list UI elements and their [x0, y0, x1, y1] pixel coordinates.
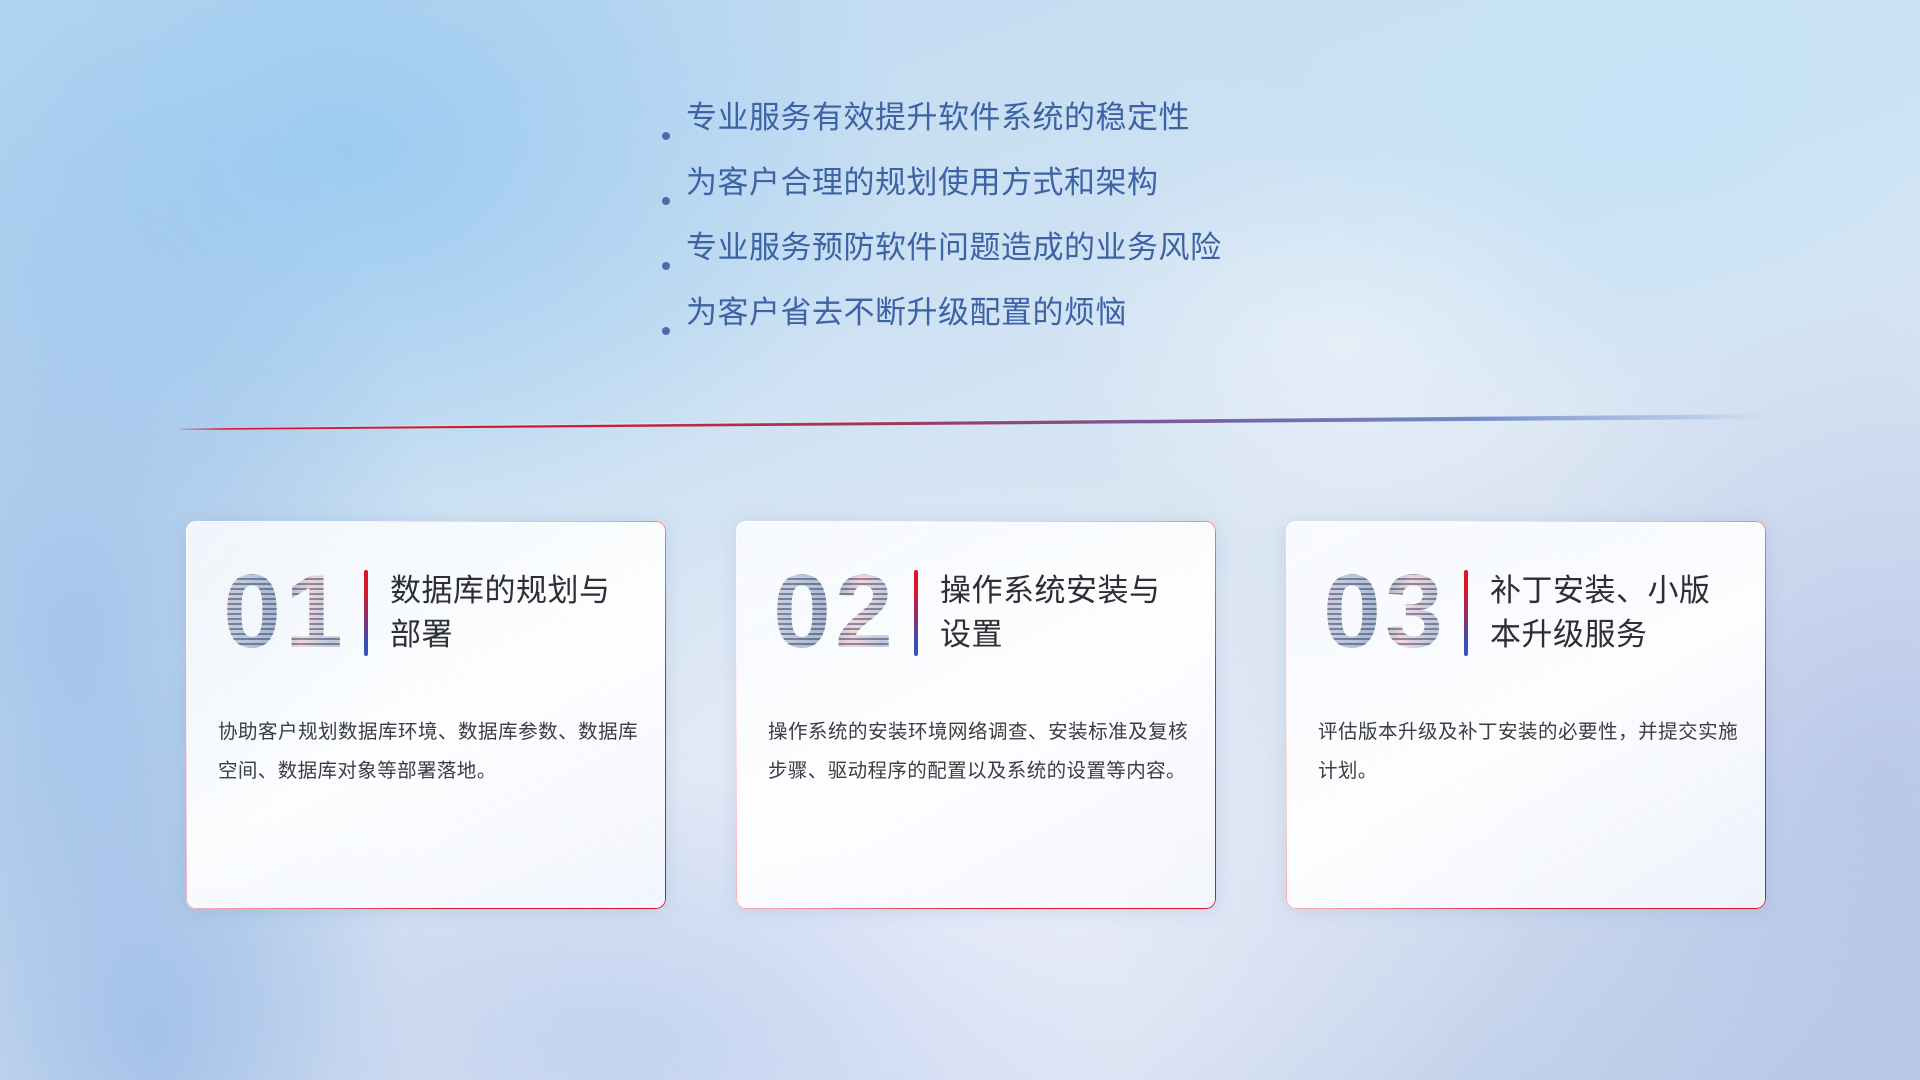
card-header: 01 数据库的规划与部署	[186, 547, 666, 679]
service-card-row: 01 数据库的规划与部署 协助客户规划数据库环境、数据库参数、数据库空间、数据库…	[186, 521, 1766, 911]
section-divider-rule	[180, 408, 1765, 430]
card-index-watermark: 03	[1310, 553, 1460, 673]
card-title: 数据库的规划与部署	[390, 569, 640, 657]
card-description: 协助客户规划数据库环境、数据库参数、数据库空间、数据库对象等部署落地。	[218, 713, 638, 791]
service-card[interactable]: 01 数据库的规划与部署 协助客户规划数据库环境、数据库参数、数据库空间、数据库…	[186, 521, 666, 909]
card-index-watermark: 01	[210, 553, 360, 673]
slide-canvas: 专业服务有效提升软件系统的稳定性 为客户合理的规划使用方式和架构 专业服务预防软…	[0, 0, 1920, 1080]
bullet-text: 专业服务有效提升软件系统的稳定性	[686, 92, 1190, 137]
card-description: 操作系统的安装环境网络调查、安装标准及复核步骤、驱动程序的配置以及系统的设置等内…	[768, 713, 1188, 791]
service-card[interactable]: 02 操作系统安装与设置 操作系统的安装环境网络调查、安装标准及复核步骤、驱动程…	[736, 521, 1216, 909]
card-accent-divider	[364, 570, 368, 656]
list-item: 为客户合理的规划使用方式和架构	[660, 157, 1420, 222]
service-card[interactable]: 03 补丁安装、小版本升级服务 评估版本升级及补丁安装的必要性，并提交实施计划。	[1286, 521, 1766, 909]
card-header: 02 操作系统安装与设置	[736, 547, 1216, 679]
card-index-watermark: 02	[760, 553, 910, 673]
card-description: 评估版本升级及补丁安装的必要性，并提交实施计划。	[1318, 713, 1738, 791]
benefit-bullet-list: 专业服务有效提升软件系统的稳定性 为客户合理的规划使用方式和架构 专业服务预防软…	[660, 92, 1420, 352]
card-title: 补丁安装、小版本升级服务	[1490, 569, 1740, 657]
bullet-text: 专业服务预防软件问题造成的业务风险	[686, 222, 1222, 267]
card-accent-divider	[1464, 570, 1468, 656]
card-title: 操作系统安装与设置	[940, 569, 1190, 657]
list-item: 为客户省去不断升级配置的烦恼	[660, 287, 1420, 352]
list-item: 专业服务有效提升软件系统的稳定性	[660, 92, 1420, 157]
card-header: 03 补丁安装、小版本升级服务	[1286, 547, 1766, 679]
bullet-text: 为客户省去不断升级配置的烦恼	[686, 287, 1127, 332]
card-accent-divider	[914, 570, 918, 656]
list-item: 专业服务预防软件问题造成的业务风险	[660, 222, 1420, 287]
bullet-text: 为客户合理的规划使用方式和架构	[686, 157, 1159, 202]
